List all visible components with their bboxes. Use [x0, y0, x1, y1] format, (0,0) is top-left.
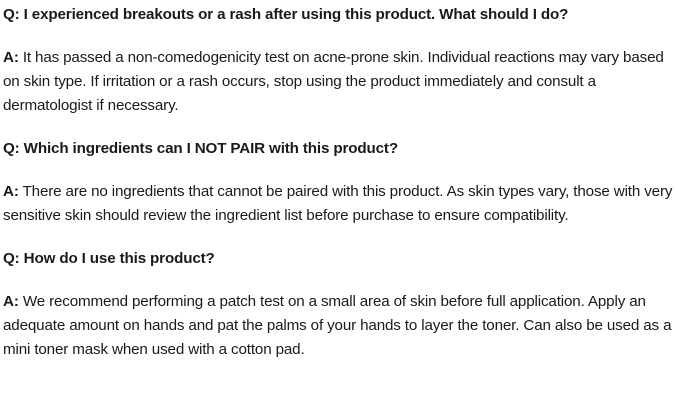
question-prefix: Q: — [3, 250, 20, 267]
faq-question: Q: Which ingredients can I NOT PAIR with… — [3, 137, 675, 161]
answer-text: We recommend performing a patch test on … — [3, 293, 671, 358]
faq-answer: A: It has passed a non-comedogenicity te… — [3, 46, 675, 118]
faq-document: Q: I experienced breakouts or a rash aft… — [0, 0, 679, 410]
question-text: I experienced breakouts or a rash after … — [24, 6, 569, 23]
question-prefix: Q: — [3, 140, 20, 157]
answer-prefix: A: — [3, 49, 19, 66]
question-prefix: Q: — [3, 6, 20, 23]
faq-answer: A: We recommend performing a patch test … — [3, 290, 675, 362]
question-text: How do I use this product? — [24, 250, 215, 267]
faq-item: Q: How do I use this product? A: We reco… — [3, 247, 675, 362]
answer-text: It has passed a non-comedogenicity test … — [3, 49, 664, 114]
faq-answer: A: There are no ingredients that cannot … — [3, 180, 675, 228]
faq-question: Q: How do I use this product? — [3, 247, 675, 271]
answer-prefix: A: — [3, 293, 19, 310]
answer-text: There are no ingredients that cannot be … — [3, 183, 672, 224]
faq-question: Q: I experienced breakouts or a rash aft… — [3, 3, 675, 27]
answer-prefix: A: — [3, 183, 19, 200]
faq-item: Q: Which ingredients can I NOT PAIR with… — [3, 137, 675, 228]
faq-item: Q: I experienced breakouts or a rash aft… — [3, 3, 675, 118]
question-text: Which ingredients can I NOT PAIR with th… — [24, 140, 398, 157]
